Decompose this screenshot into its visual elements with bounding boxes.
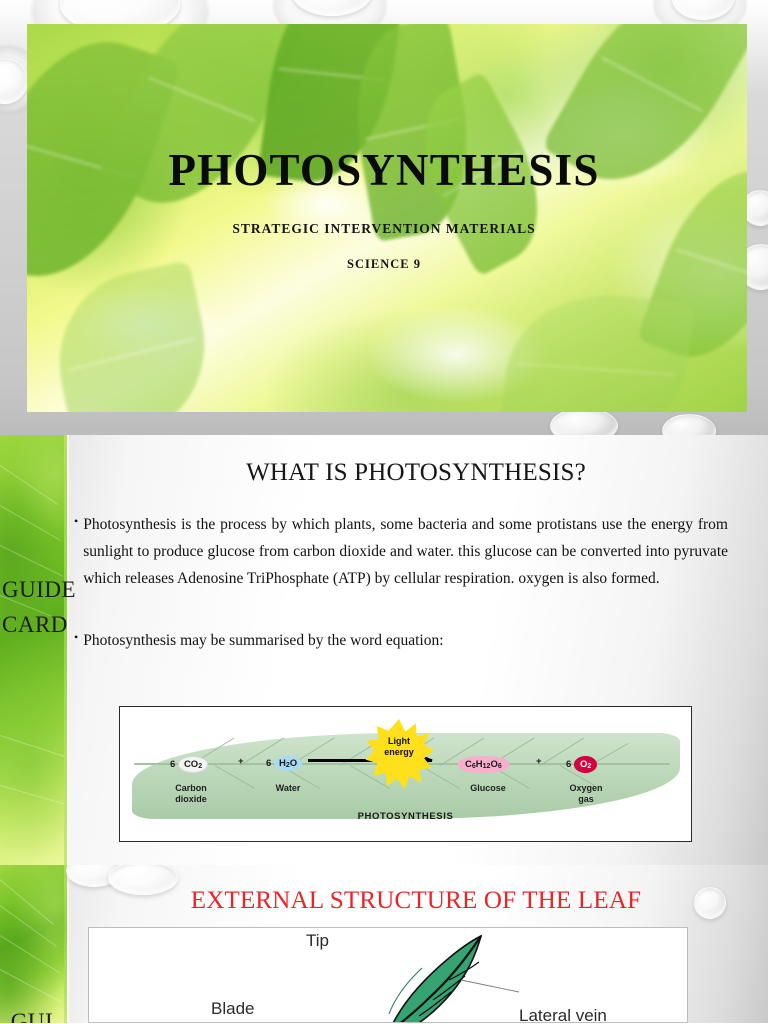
leaf-vein-line — [0, 879, 54, 925]
product-glucose: C6H12O6 — [458, 756, 509, 773]
leaf-structure-image: Tip Blade Lateral vein — [88, 927, 688, 1023]
label-oxygen-gas: Oxygen gas — [552, 783, 620, 806]
guide-card-sidebar — [0, 865, 64, 1023]
list-item: • Photosynthesis is the process by which… — [74, 511, 728, 592]
molecule-bubble-h2o: H2O — [274, 756, 302, 771]
photosynthesis-equation-image: 6 CO2 Carbon dioxide + 6 H2O Water Light… — [119, 706, 692, 842]
bullet-icon: • — [74, 511, 83, 532]
guide-card-sidebar — [0, 435, 64, 865]
label-carbon-dioxide: Carbon dioxide — [156, 783, 226, 806]
sidebar-item-guide-card: GUIDE CARD — [2, 573, 62, 643]
title-block: PHOTOSYNTHESIS STRATEGIC INTERVENTION MA… — [0, 148, 768, 272]
list-item: • Photosynthesis may be summarised by th… — [74, 627, 728, 654]
slide-external-structure-of-leaf: GUI EXTERNAL STRUCTURE OF THE LEAF Tip B… — [0, 865, 768, 1023]
label-lateral-vein: Lateral vein — [519, 1006, 607, 1023]
bullet-text: Photosynthesis is the process by which p… — [83, 511, 728, 592]
slide-title: PHOTOSYNTHESIS STRATEGIC INTERVENTION MA… — [0, 0, 768, 435]
leaf-vein-line — [0, 735, 64, 758]
presentation-course: SCIENCE 9 — [0, 257, 768, 272]
label-light-energy: Light energy — [364, 736, 434, 758]
leaf-shape — [500, 285, 695, 412]
operator-plus-2: + — [536, 756, 542, 767]
coefficient: 6 — [170, 759, 175, 770]
reactant-h2o: 6 H2O — [266, 756, 302, 771]
sidebar-divider-highlight — [67, 435, 69, 865]
bullet-icon: • — [74, 627, 83, 648]
leaf-vein-line — [0, 465, 58, 505]
presentation-title: PHOTOSYNTHESIS — [0, 148, 768, 193]
leaf-vein-line — [0, 969, 62, 1003]
molecule-bubble-o2: O2 — [574, 756, 597, 773]
leaf-vein-line — [0, 545, 63, 577]
slide-heading: EXTERNAL STRUCTURE OF THE LEAF — [64, 887, 768, 915]
reactant-co2: 6 CO2 — [170, 756, 208, 773]
leaf-vein-line — [0, 785, 64, 805]
label-water: Water — [260, 783, 316, 794]
coefficient: 6 — [266, 758, 271, 769]
bullet-text: Photosynthesis may be summarised by the … — [83, 627, 728, 654]
molecule-bubble-co2: CO2 — [178, 756, 208, 773]
presentation-subtitle: STRATEGIC INTERVENTION MATERIALS — [0, 221, 768, 237]
molecule-bubble-glucose: C6H12O6 — [458, 756, 509, 773]
label-blade: Blade — [211, 999, 254, 1019]
droplet-icon — [292, 0, 372, 16]
slide-heading: WHAT IS PHOTOSYNTHESIS? — [64, 459, 768, 487]
droplet-icon — [0, 58, 28, 104]
diagram-caption: PHOTOSYNTHESIS — [120, 811, 691, 822]
leaf-vein-line — [0, 505, 61, 541]
operator-plus-1: + — [238, 756, 244, 767]
coefficient: 6 — [566, 759, 571, 770]
droplet-icon — [662, 414, 716, 435]
droplet-icon — [672, 0, 734, 20]
sidebar-item-guide-card: GUI — [2, 1005, 62, 1023]
leaf-shape — [42, 260, 222, 412]
label-tip: Tip — [306, 931, 329, 951]
light-energy-burst: Light energy — [364, 719, 434, 789]
bullet-list: • Photosynthesis is the process by which… — [74, 511, 728, 655]
label-glucose: Glucose — [456, 783, 520, 794]
droplet-icon — [550, 408, 618, 435]
product-oxygen: 6 O2 — [566, 756, 597, 773]
